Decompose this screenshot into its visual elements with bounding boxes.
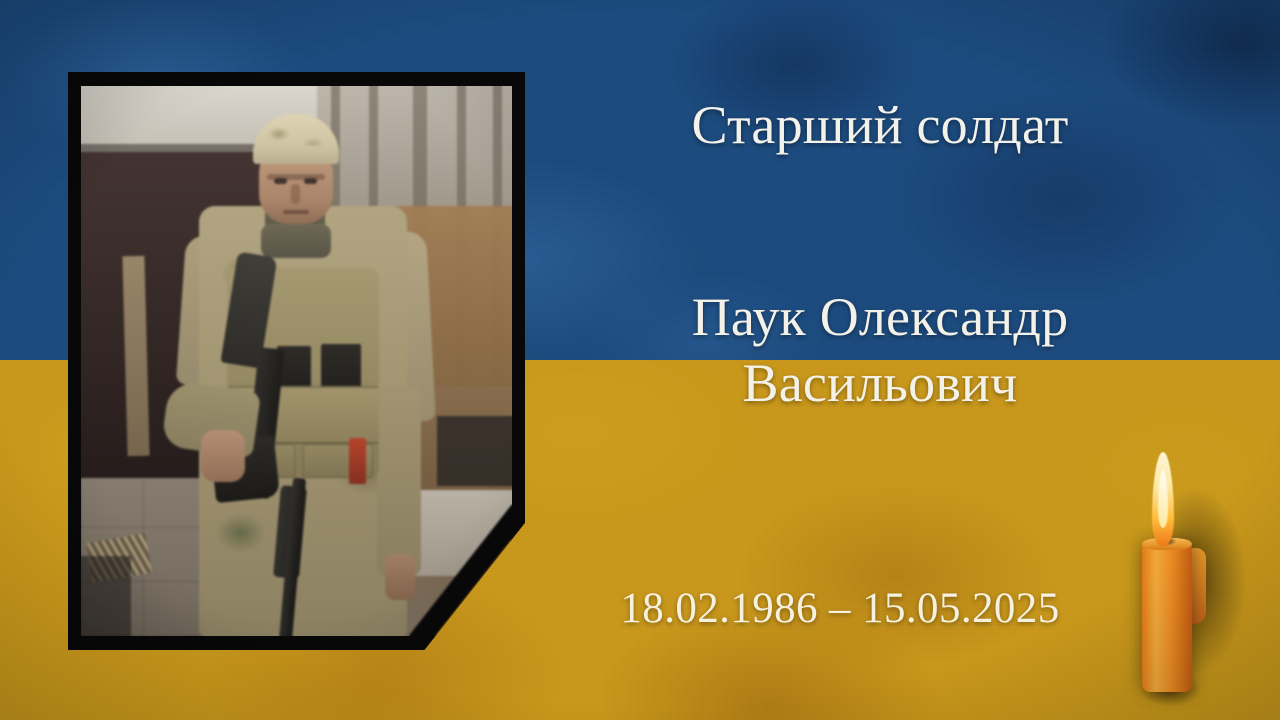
soldier-photo xyxy=(81,86,512,636)
memorial-candle-icon xyxy=(1098,430,1280,720)
photo-softness xyxy=(81,86,512,636)
rank-title: Старший солдат xyxy=(560,96,1200,154)
candle-body xyxy=(1142,542,1192,692)
name-line-2: Васильович xyxy=(560,350,1200,416)
memorial-slide: Старший солдат Паук Олександр Васильович… xyxy=(0,0,1280,720)
photo-frame xyxy=(68,72,525,650)
full-name: Паук Олександр Васильович xyxy=(560,284,1200,416)
life-dates: 18.02.1986 – 15.05.2025 xyxy=(560,585,1120,633)
name-line-1: Паук Олександр xyxy=(692,287,1069,347)
